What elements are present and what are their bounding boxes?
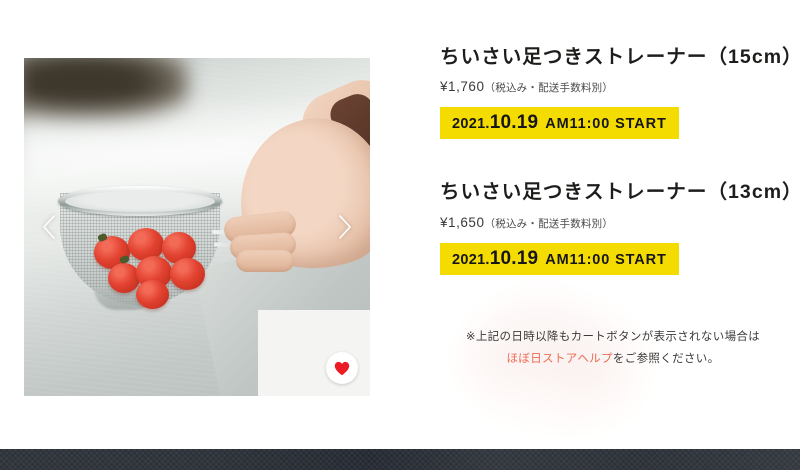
favorite-button[interactable] [326, 352, 358, 384]
chevron-right-icon [337, 214, 353, 240]
gallery-prev-button[interactable] [34, 206, 64, 248]
sale-start-badge: 2021.10.19AM11:00 START [440, 107, 679, 139]
badge-year: 2021. [452, 116, 490, 132]
photo-tomato [108, 263, 140, 293]
product-title: ちいさい足つきストレーナー（13cm） [440, 179, 786, 205]
product-price-line: ¥1,760（税込み・配送手数料別） [440, 79, 786, 95]
product-price-note: （税込み・配送手数料別） [485, 82, 614, 94]
product-photo[interactable] [24, 58, 370, 396]
note-line-1: ※上記の日時以降もカートボタンが表示されない場合は [466, 331, 760, 343]
product-block: ちいさい足つきストレーナー（13cm） ¥1,650（税込み・配送手数料別） 2… [440, 179, 786, 274]
product-price-note: （税込み・配送手数料別） [485, 218, 614, 230]
product-price: ¥1,760 [440, 79, 485, 94]
heart-icon [334, 361, 350, 376]
product-price-line: ¥1,650（税込み・配送手数料別） [440, 215, 786, 231]
badge-day: 10.19 [490, 112, 539, 133]
product-image-gallery[interactable] [24, 58, 370, 396]
gallery-next-button[interactable] [330, 206, 360, 248]
note-line-2: ほぼ日ストアヘルプをご参照ください。 [440, 348, 786, 370]
note-line-2-tail: をご参照ください。 [613, 353, 720, 365]
product-info-column: ちいさい足つきストレーナー（15cm） ¥1,760（税込み・配送手数料別） 2… [440, 44, 786, 315]
badge-day: 10.19 [490, 248, 539, 269]
sale-start-badge: 2021.10.19AM11:00 START [440, 243, 679, 275]
photo-tomato [136, 280, 169, 309]
product-page: ちいさい足つきストレーナー（15cm） ¥1,760（税込み・配送手数料別） 2… [0, 0, 800, 470]
photo-tomato [170, 258, 205, 290]
cart-availability-note: ※上記の日時以降もカートボタンが表示されない場合は ほぼ日ストアヘルプをご参照く… [440, 326, 786, 371]
product-title: ちいさい足つきストレーナー（15cm） [440, 44, 786, 70]
photo-finger [236, 250, 294, 272]
store-help-link[interactable]: ほぼ日ストアヘルプ [507, 353, 613, 365]
photo-strainer-rim-inner [65, 191, 215, 212]
photo-counter-edge-light [258, 310, 370, 396]
product-block: ちいさい足つきストレーナー（15cm） ¥1,760（税込み・配送手数料別） 2… [440, 44, 786, 139]
badge-time: AM11:00 START [545, 116, 666, 132]
chevron-left-icon [41, 214, 57, 240]
footer-strip [0, 449, 800, 470]
badge-time: AM11:00 START [545, 252, 666, 268]
product-price: ¥1,650 [440, 215, 485, 230]
badge-year: 2021. [452, 252, 490, 268]
